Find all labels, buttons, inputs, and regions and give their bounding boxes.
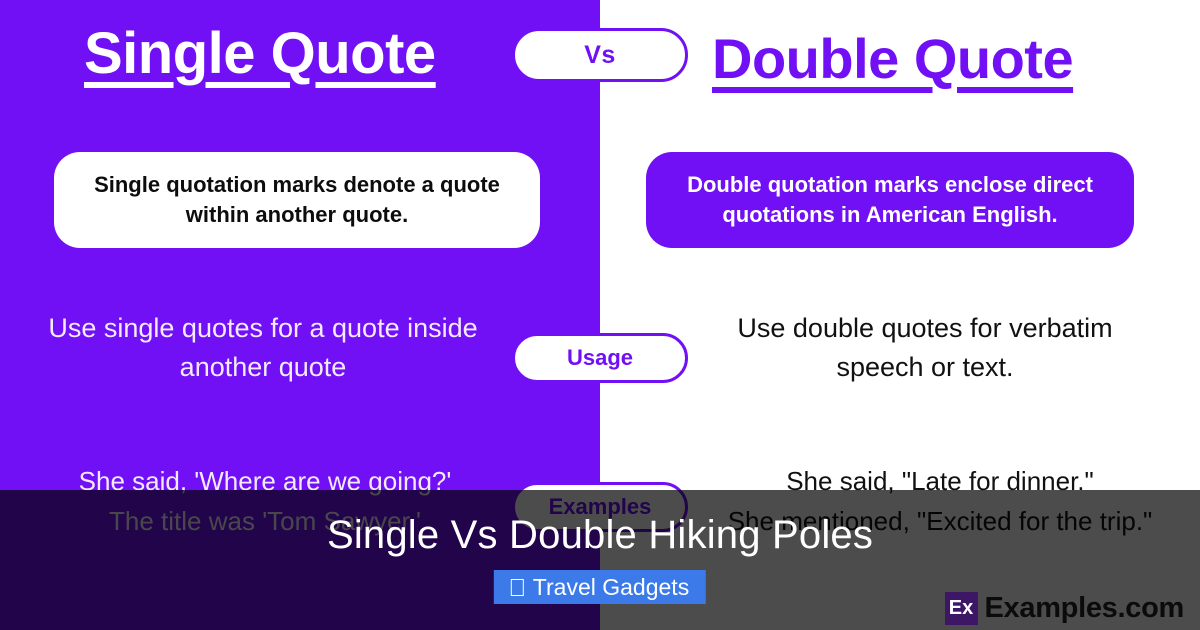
missing-glyph-icon	[511, 579, 524, 596]
overlay-title: Single Vs Double Hiking Poles	[0, 513, 1200, 558]
brand-logo[interactable]: Ex Examples.com	[945, 592, 1185, 625]
usage-label-badge: Usage	[512, 333, 688, 383]
category-badge[interactable]: Travel Gadgets	[494, 570, 706, 604]
right-usage-text: Use double quotes for verbatim speech or…	[700, 305, 1150, 391]
brand-name: Examples.com	[985, 592, 1185, 625]
category-badge-label: Travel Gadgets	[533, 574, 689, 601]
right-definition-card: Double quotation marks enclose direct qu…	[646, 152, 1134, 248]
brand-mark-icon: Ex	[945, 592, 978, 625]
left-usage-text: Use single quotes for a quote inside ano…	[48, 305, 478, 391]
left-definition-card: Single quotation marks denote a quote wi…	[54, 152, 540, 248]
vs-badge: Vs	[512, 28, 688, 82]
left-title: Single Quote	[84, 20, 436, 87]
right-title: Double Quote	[712, 26, 1073, 91]
